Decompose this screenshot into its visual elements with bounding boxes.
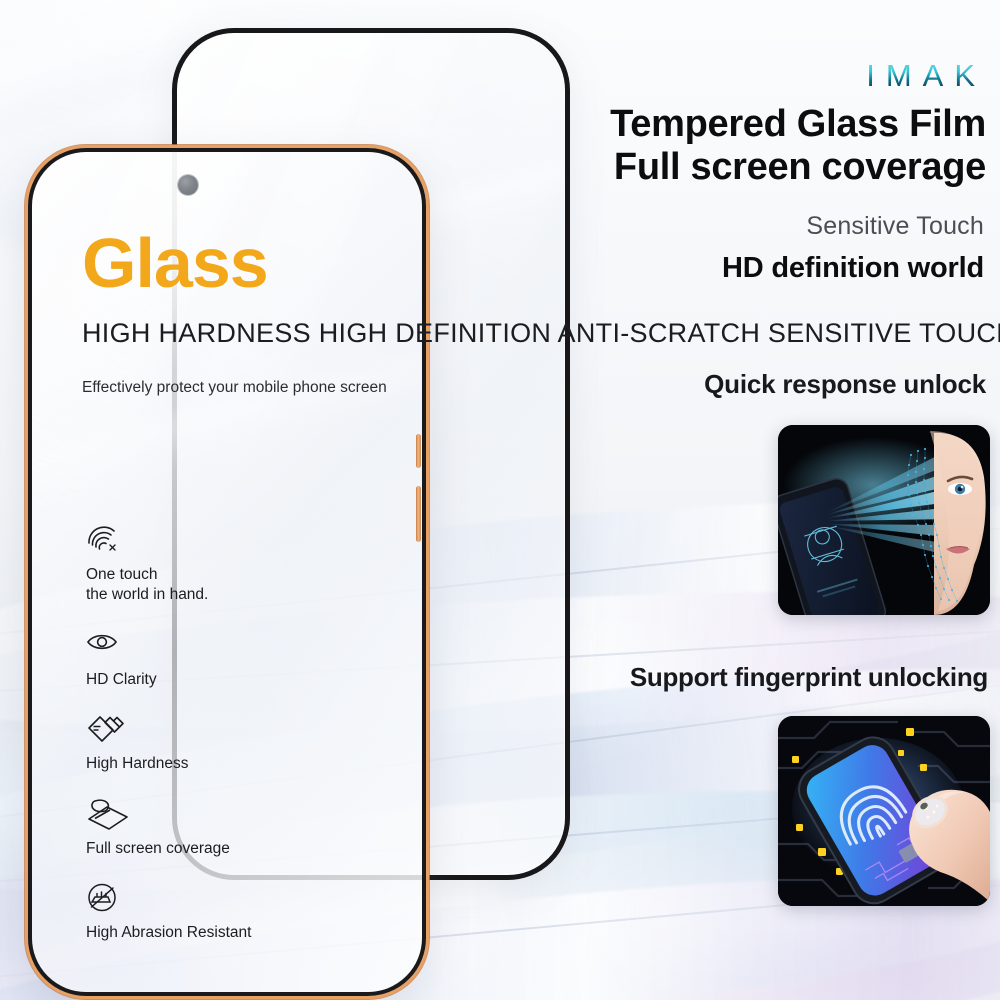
fingerprint-scan-photo (778, 716, 990, 906)
icon-feature-row: One touch the world in hand. (86, 524, 406, 606)
no-abrasion-icon (86, 882, 406, 916)
glass-headline: Glass (82, 228, 412, 298)
film-sheets-icon (86, 798, 406, 832)
product-marketing-image: Glass HIGH HARDNESS HIGH DEFINITION ANTI… (0, 0, 1000, 1000)
headline-line-2: Full screen coverage (614, 145, 986, 190)
icon-feature-label: One touch the world in hand. (86, 565, 406, 606)
icon-feature-row: High Abrasion Resistant (86, 882, 406, 943)
icon-feature-label: HD Clarity (86, 670, 406, 690)
power-button (416, 486, 421, 542)
tagline-hd-definition: HD definition world (722, 252, 984, 285)
caption-quick-response-unlock: Quick response unlock (704, 369, 986, 400)
icon-feature-row: High Hardness (86, 713, 406, 774)
eye-icon (86, 629, 406, 663)
caption-support-fingerprint-unlocking: Support fingerprint unlocking (630, 662, 988, 693)
brand-logo: IMAK (866, 58, 986, 94)
subtitle-sensitive-touch: Sensitive Touch (806, 212, 984, 241)
icon-feature-label: High Abrasion Resistant (86, 923, 406, 943)
product-copy-block: Glass HIGH HARDNESS HIGH DEFINITION ANTI… (82, 228, 412, 399)
icon-feature-list: One touch the world in hand. HD Clarity (86, 524, 406, 967)
headline-line-1: Tempered Glass Film (610, 102, 986, 147)
front-camera-punch-hole (178, 175, 198, 195)
fingerprint-touch-icon (86, 524, 406, 558)
volume-button (416, 434, 421, 468)
feature-lines: HIGH HARDNESS HIGH DEFINITION ANTI-SCRAT… (82, 316, 412, 351)
pencil-scratch-icon (86, 713, 406, 747)
icon-feature-label: High Hardness (86, 754, 406, 774)
icon-feature-row: Full screen coverage (86, 798, 406, 859)
product-subcopy: Effectively protect your mobile phone sc… (82, 377, 412, 399)
icon-feature-label: Full screen coverage (86, 839, 406, 859)
face-scan-photo (778, 425, 990, 615)
icon-feature-row: HD Clarity (86, 629, 406, 690)
